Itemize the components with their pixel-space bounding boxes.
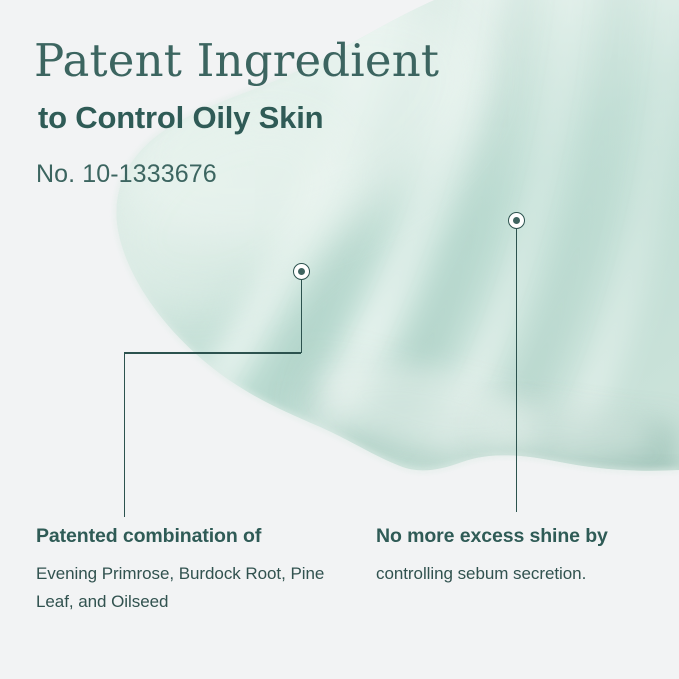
callout-right-line-segment-vertical [516, 229, 517, 512]
callout-caption-left: Patented combination of Evening Primrose… [36, 524, 356, 615]
callout-marker-left[interactable] [293, 263, 310, 280]
callout-left-line-segment-vertical-top [301, 280, 302, 353]
callout-left-line-segment-horizontal [124, 352, 301, 353]
page-subtitle: to Control Oily Skin [38, 101, 504, 135]
header-text-block: Patent Ingredient to Control Oily Skin N… [34, 38, 504, 188]
callout-left-heading: Patented combination of [36, 524, 356, 548]
callout-left-line-segment-vertical-bottom [124, 352, 125, 517]
patent-number: No. 10-1333676 [36, 161, 504, 189]
callout-right-body: controlling sebum secretion. [376, 560, 666, 588]
callout-left-body: Evening Primrose, Burdock Root, Pine Lea… [36, 560, 356, 615]
poster-canvas: Patent Ingredient to Control Oily Skin N… [0, 0, 679, 679]
callout-caption-right: No more excess shine by controlling sebu… [376, 524, 666, 588]
callout-right-heading: No more excess shine by [376, 524, 666, 548]
callout-marker-right[interactable] [508, 212, 525, 229]
page-title: Patent Ingredient [34, 38, 504, 85]
